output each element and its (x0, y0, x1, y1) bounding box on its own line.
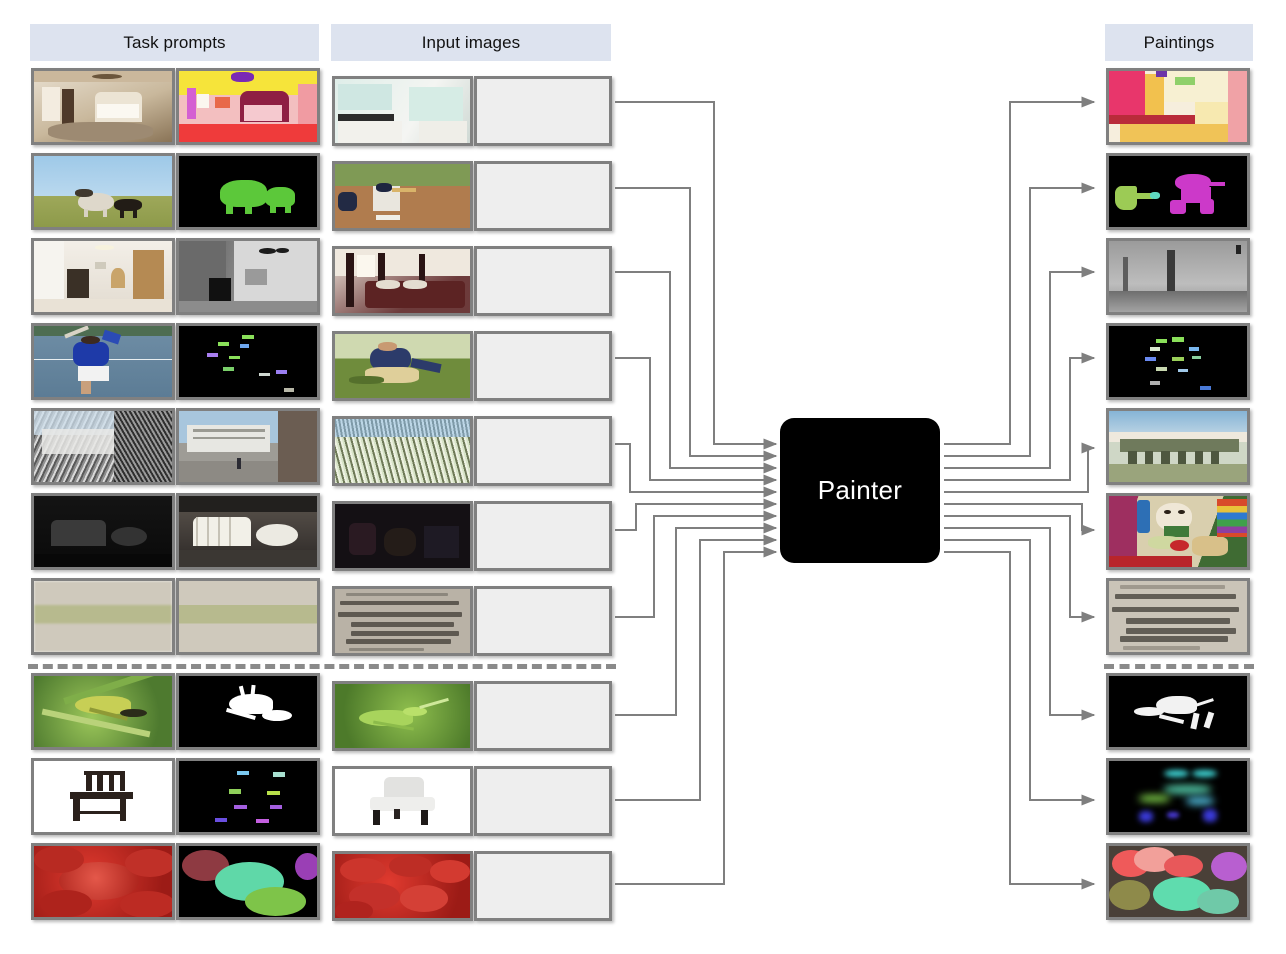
prompt-input-sheep-field-photo (31, 153, 175, 230)
prompt-target-bright-dish-rack-photo (176, 493, 320, 570)
painting-baseball-person-masks (1106, 153, 1250, 230)
prompt-input-rainy-texture-photo (31, 578, 175, 655)
painting-derained-text-document-photo (1106, 578, 1250, 655)
empty-output-slot-0 (474, 76, 612, 146)
empty-output-slot-7 (474, 681, 612, 751)
empty-output-slot-8 (474, 766, 612, 836)
column-header-input-images: Input images (331, 24, 611, 61)
prompt-input-noisy-building-photo (31, 408, 175, 485)
prompt-target-sheep-instance-mask (176, 153, 320, 230)
input-image-red-blood-cells-photo-2 (332, 851, 473, 921)
empty-output-slot-3 (474, 331, 612, 401)
column-header-input-images-label: Input images (422, 33, 521, 53)
painting-clean-viaduct-photo (1106, 408, 1250, 485)
prompt-target-chair-keypoints-map (176, 758, 320, 835)
input-image-person-sitting-grass-photo (332, 331, 473, 401)
painting-blood-cell-instance-mask-output (1106, 843, 1250, 920)
empty-output-slot-6 (474, 586, 612, 656)
input-image-white-armchair-photo (332, 766, 473, 836)
input-image-baseball-batter-photo (332, 161, 473, 231)
empty-output-slot-5 (474, 501, 612, 571)
empty-output-slot-1 (474, 161, 612, 231)
prompt-target-living-room-depth-map (176, 238, 320, 315)
prompt-input-dark-dish-rack-photo (31, 493, 175, 570)
empty-output-slot-2 (474, 246, 612, 316)
painting-grasshopper-binary-mask-output (1106, 673, 1250, 750)
painter-model-block[interactable]: Painter (780, 418, 940, 563)
prompt-target-clean-building-photo (176, 408, 320, 485)
input-image-green-grasshopper-photo (332, 681, 473, 751)
column-header-task-prompts: Task prompts (30, 24, 319, 61)
prompt-input-living-room-photo (31, 238, 175, 315)
prompt-input-bedroom-photo (31, 68, 175, 145)
prompt-target-grasshopper-binary-mask (176, 673, 320, 750)
painting-bedroom-depth-map (1106, 238, 1250, 315)
painting-bathroom-semantic-map (1106, 68, 1250, 145)
painter-model-label: Painter (818, 475, 902, 506)
prompt-input-tennis-player-photo (31, 323, 175, 400)
column-header-task-prompts-label: Task prompts (123, 33, 225, 53)
column-header-paintings: Paintings (1105, 24, 1253, 61)
empty-output-slot-4 (474, 416, 612, 486)
prompt-input-black-wooden-chair-photo (31, 758, 175, 835)
prompt-target-tennis-keypoints-map (176, 323, 320, 400)
prompt-target-blood-cell-instance-mask (176, 843, 320, 920)
prompt-input-red-blood-cells-photo (31, 843, 175, 920)
prompt-target-derained-texture-photo (176, 578, 320, 655)
column-header-paintings-label: Paintings (1144, 33, 1215, 53)
section-separator-left (28, 664, 616, 669)
prompt-input-grasshopper-on-grass-photo (31, 673, 175, 750)
painting-bright-objects-photo (1106, 493, 1250, 570)
input-image-dark-objects-photo (332, 501, 473, 571)
section-separator-right (1104, 664, 1254, 669)
empty-output-slot-9 (474, 851, 612, 921)
input-image-noisy-viaduct-photo (332, 416, 473, 486)
input-image-rainy-text-document-photo (332, 586, 473, 656)
figure-canvas: Task prompts Input images Paintings (0, 0, 1286, 954)
prompt-target-bedroom-semantic-map (176, 68, 320, 145)
painting-person-keypoints-map (1106, 323, 1250, 400)
input-image-bathroom-photo (332, 76, 473, 146)
input-image-four-poster-bedroom-photo (332, 246, 473, 316)
painting-armchair-keypoints-map (1106, 758, 1250, 835)
